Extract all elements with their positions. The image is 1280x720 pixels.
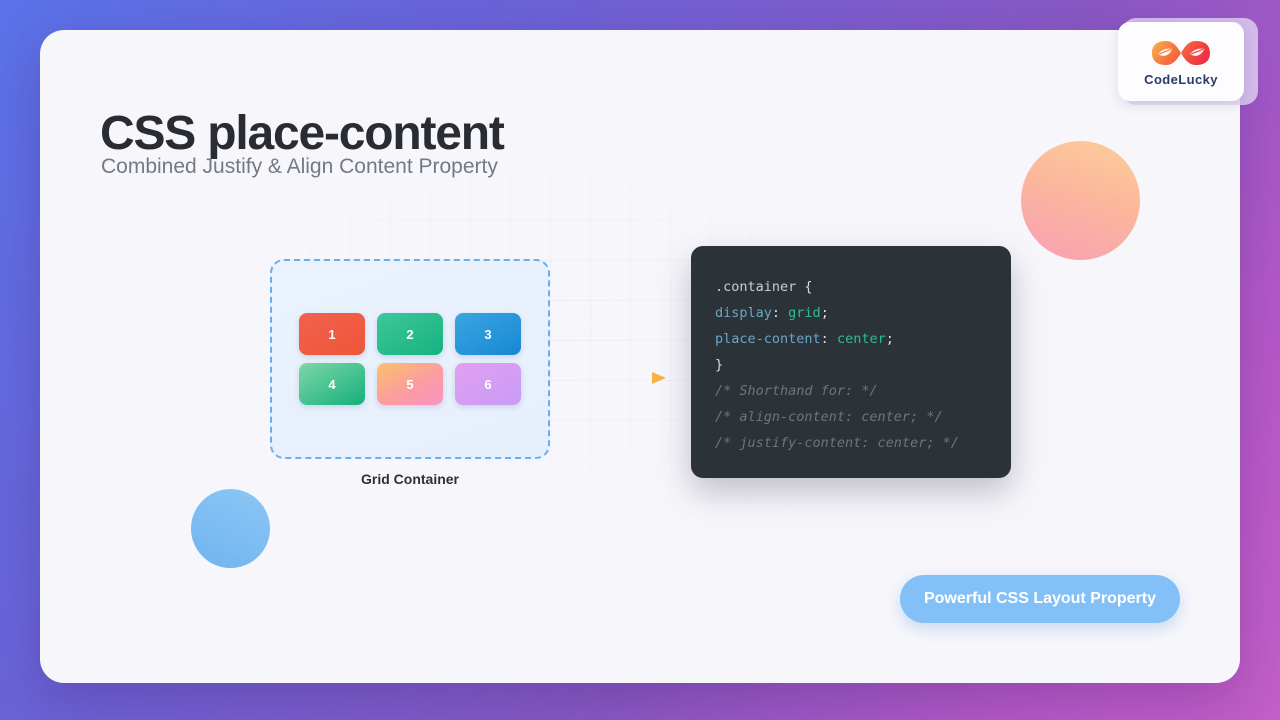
code-line: display: grid; bbox=[715, 300, 987, 326]
grid-item: 5 bbox=[377, 363, 443, 405]
logo-badge: CodeLucky bbox=[1118, 22, 1244, 101]
grid-items: 1 2 3 4 5 6 bbox=[299, 313, 521, 405]
axis-arrows-svg bbox=[588, 330, 688, 410]
code-value: grid bbox=[788, 305, 821, 321]
page-subtitle: Combined Justify & Align Content Propert… bbox=[101, 155, 498, 179]
arrow-right-head-icon bbox=[652, 372, 666, 384]
code-line: } bbox=[715, 352, 987, 378]
code-separator: : bbox=[772, 305, 788, 321]
grid-demo: 1 2 3 4 5 6 Grid Container bbox=[270, 259, 550, 459]
grid-item: 4 bbox=[299, 363, 365, 405]
grid-container-box: 1 2 3 4 5 6 bbox=[270, 259, 550, 459]
grid-item: 1 bbox=[299, 313, 365, 355]
grid-container-label: Grid Container bbox=[270, 471, 550, 487]
code-comment-line: /* align-content: center; */ bbox=[715, 404, 987, 430]
page-title: CSS place-content bbox=[100, 106, 504, 161]
code-line: .container { bbox=[715, 274, 987, 300]
content-card: CSS place-content Combined Justify & Ali… bbox=[40, 30, 1240, 683]
grid-item: 3 bbox=[455, 313, 521, 355]
code-comment-line: /* justify-content: center; */ bbox=[715, 430, 987, 456]
peach-circle bbox=[1021, 141, 1140, 260]
code-selector: .container bbox=[715, 279, 796, 295]
code-property: place-content bbox=[715, 331, 821, 347]
axis-arrows bbox=[588, 330, 688, 410]
grid-item: 6 bbox=[455, 363, 521, 405]
code-property: display bbox=[715, 305, 772, 321]
grid-item: 2 bbox=[377, 313, 443, 355]
code-separator: : bbox=[821, 331, 837, 347]
code-snippet-block: .container { display: grid; place-conten… bbox=[691, 246, 1011, 478]
brand-name: CodeLucky bbox=[1144, 72, 1218, 87]
code-brace: { bbox=[796, 279, 812, 295]
blue-circle bbox=[191, 489, 270, 568]
slide-canvas: CSS place-content Combined Justify & Ali… bbox=[0, 0, 1280, 720]
code-comment-line: /* Shorthand for: */ bbox=[715, 378, 987, 404]
code-semicolon: ; bbox=[821, 305, 829, 321]
infinity-leaf-logo-icon bbox=[1149, 36, 1213, 70]
status-badge: Powerful CSS Layout Property bbox=[900, 575, 1180, 623]
code-line: place-content: center; bbox=[715, 326, 987, 352]
code-value: center bbox=[837, 331, 886, 347]
code-semicolon: ; bbox=[886, 331, 894, 347]
